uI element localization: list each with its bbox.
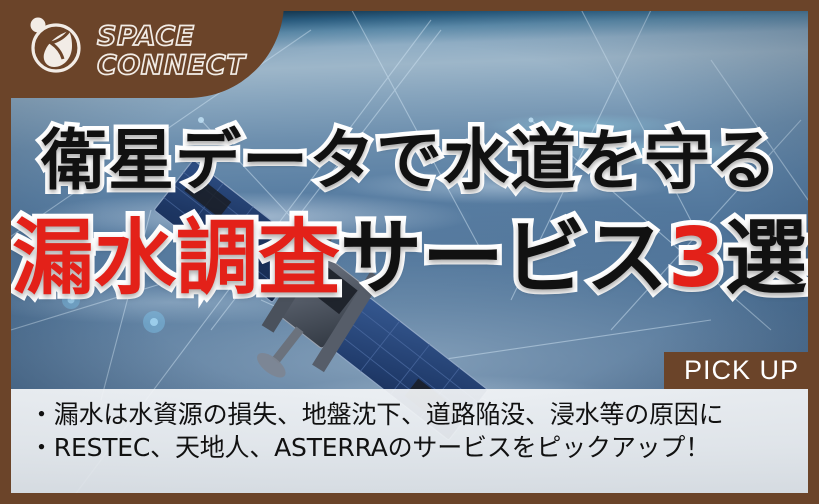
promo-banner: SPACE CONNECT 衛星データで水道を守る 漏水調査サービス3選 PIC… [0, 0, 819, 504]
space-connect-logo-icon [24, 14, 86, 76]
brand-line1: SPACE [97, 21, 195, 52]
headline-emphasis-leak-survey: 漏水調査 [12, 211, 340, 306]
summary-bullet: ・RESTEC、天地人、ASTERRAのサービスをピックアップ！ [29, 431, 808, 464]
headline-selection-word: 選 [725, 211, 807, 306]
brand-wordmark: SPACE CONNECT [95, 19, 270, 81]
headline-count-number: 3 [668, 211, 725, 306]
summary-bullet: ・漏水は水資源の損失、地盤沈下、道路陥没、浸水等の原因に [29, 398, 808, 431]
pick-up-badge: PICK UP [664, 352, 819, 389]
summary-panel: ・漏水は水資源の損失、地盤沈下、道路陥没、浸水等の原因に ・RESTEC、天地人… [11, 389, 808, 493]
headline-service-word: サービス [340, 211, 668, 306]
headline-line-1: 衛星データで水道を守る [0, 128, 819, 194]
headline-line-2: 漏水調査サービス3選 [0, 218, 819, 300]
brand-line2: CONNECT [97, 50, 247, 81]
